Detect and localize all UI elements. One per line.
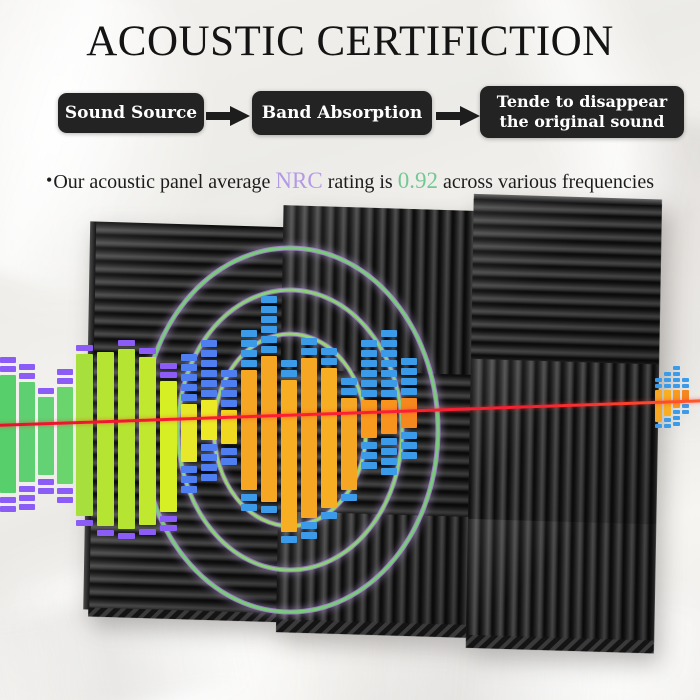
acoustic-foam-wall — [88, 188, 662, 633]
foam-panel-r1c3 — [471, 199, 662, 381]
bullet-icon: • — [46, 170, 52, 190]
foam-panel-r2c3 — [468, 359, 659, 525]
foam-panel-r2c2 — [278, 369, 471, 517]
arrow-right-icon-2 — [436, 106, 480, 126]
chip-tende-disappear[interactable]: Tende to disappear the original sound — [480, 86, 684, 138]
chip-sound-source-label: Sound Source — [65, 103, 197, 123]
foam-panel-r2c1 — [90, 364, 281, 512]
page-title: ACOUSTIC CERTIFICTION — [0, 20, 700, 63]
tagline-text-middle: rating is — [323, 171, 398, 193]
foam-panel-r1c2 — [281, 205, 474, 375]
arrow-right-icon — [206, 106, 250, 126]
foam-panel-r3c3 — [466, 519, 656, 643]
chip-band-absorption-label: Band Absorption — [262, 103, 422, 123]
poster-canvas: ACOUSTIC CERTIFICTION Sound Source Band … — [0, 0, 700, 700]
foam-panel-r3c2 — [276, 511, 468, 627]
tagline-nrc: NRC — [275, 168, 322, 193]
tagline-value: 0.92 — [398, 168, 438, 193]
foam-panel-r1c1 — [93, 222, 284, 370]
chip-tende-line1: Tende to disappear — [497, 92, 667, 112]
foam-panel-r3c1 — [88, 506, 278, 616]
chip-band-absorption[interactable]: Band Absorption — [252, 91, 432, 135]
flow-row: Sound Source Band Absorption Tende to di… — [0, 88, 700, 146]
tagline-text-after: across various frequencies — [438, 171, 654, 193]
chip-sound-source[interactable]: Sound Source — [58, 93, 204, 133]
chip-tende-line2: the original sound — [497, 112, 667, 132]
